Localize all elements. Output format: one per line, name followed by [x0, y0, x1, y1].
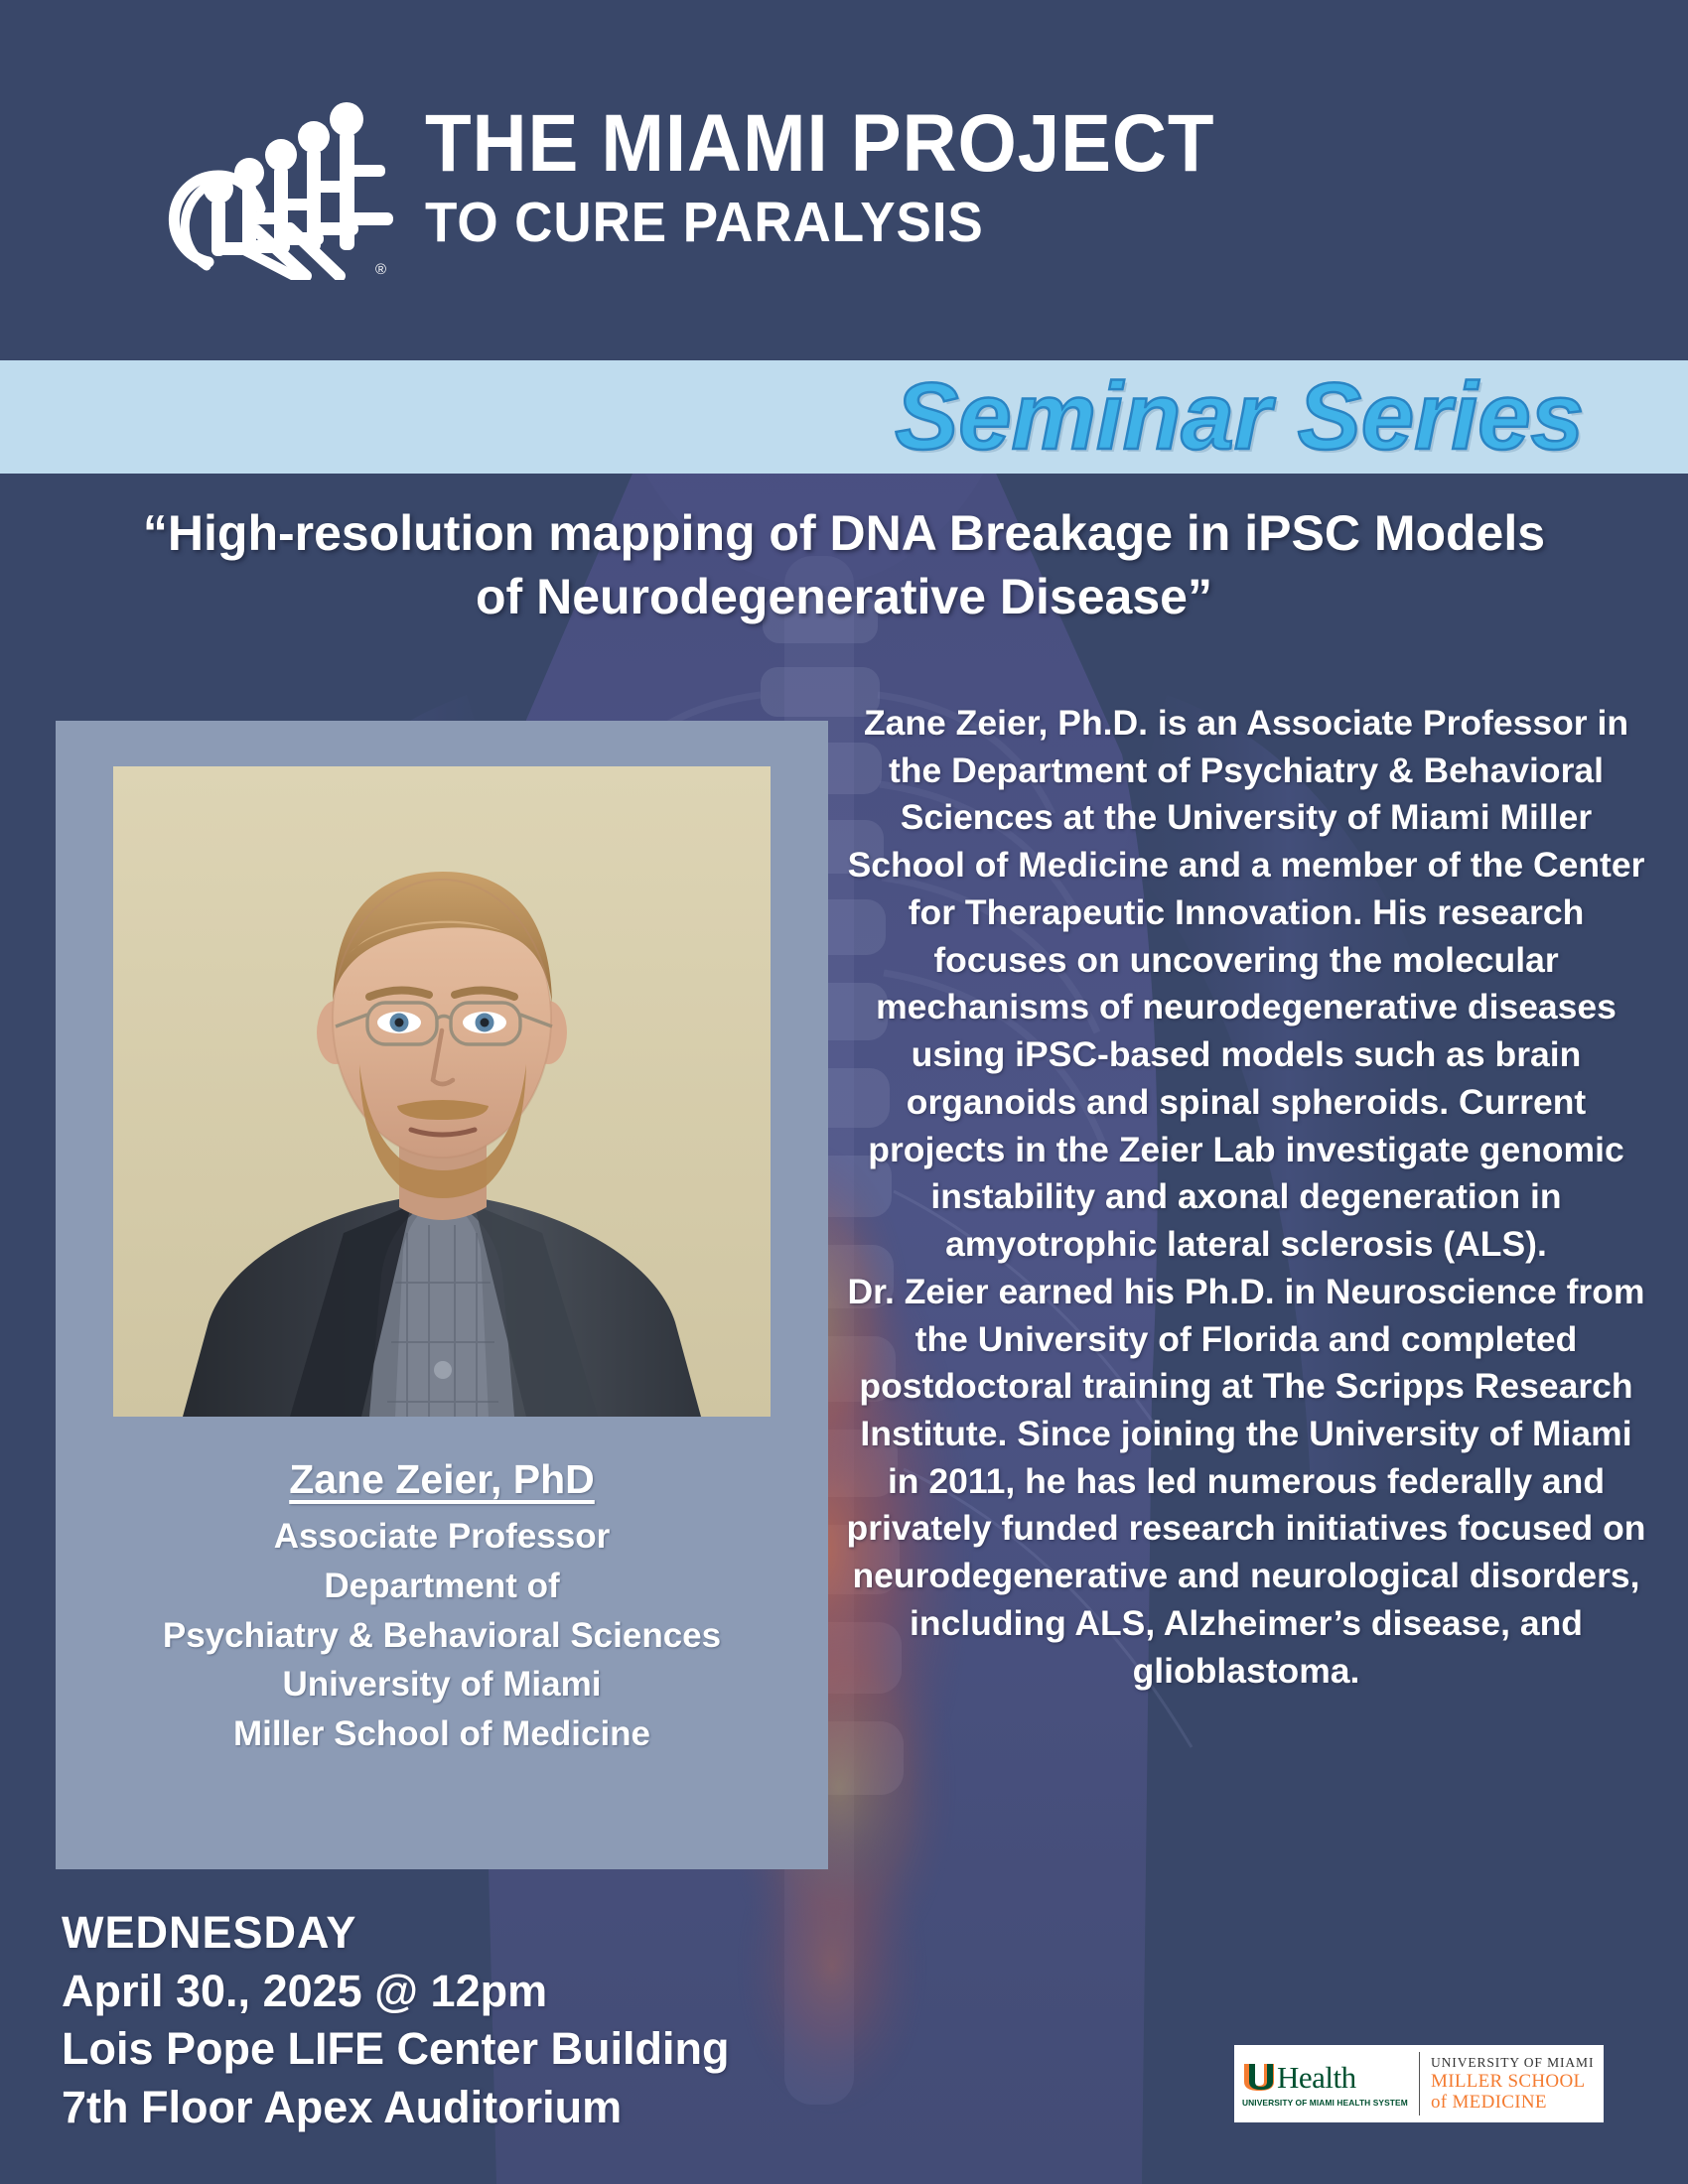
speaker-title: Associate Professor [163, 1512, 721, 1562]
seminar-series-band: Seminar Series [0, 360, 1688, 474]
speaker-institution-line-2: Miller School of Medicine [163, 1709, 721, 1759]
flyer-header: ® THE MIAMI PROJECT TO CURE PARALYSIS [0, 0, 1688, 360]
speaker-department-line-1: Department of [163, 1562, 721, 1611]
uhealth-wordmark-block: Health UNIVERSITY OF MIAMI HEALTH SYSTEM [1234, 2045, 1419, 2122]
seminar-series-title: Seminar Series [895, 369, 1584, 465]
header-inner: ® THE MIAMI PROJECT TO CURE PARALYSIS [149, 81, 1274, 280]
event-room: 7th Floor Apex Auditorium [62, 2079, 816, 2137]
speaker-panel: Zane Zeier, PhD Associate Professor Depa… [56, 721, 828, 1869]
uhealth-wordmark-row: Health [1242, 2062, 1419, 2093]
speaker-credentials: Zane Zeier, PhD Associate Professor Depa… [163, 1450, 721, 1759]
headshot-illustration [113, 766, 771, 1417]
speaker-name: Zane Zeier, PhD [163, 1450, 721, 1508]
org-name-line-1: THE MIAMI PROJECT [425, 105, 1214, 183]
speaker-biography: Zane Zeier, Ph.D. is an Associate Profes… [844, 700, 1648, 1695]
um-u-logo-icon [1242, 2062, 1276, 2092]
speaker-department-line-2: Psychiatry & Behavioral Sciences [163, 1611, 721, 1661]
miller-school-line-2: of MEDICINE [1431, 2092, 1604, 2113]
event-day: WEDNESDAY [62, 1904, 816, 1963]
event-venue: Lois Pope LIFE Center Building [62, 2020, 816, 2079]
speaker-headshot-photo [113, 766, 771, 1417]
bio-paragraph-2: Dr. Zeier earned his Ph.D. in Neuroscien… [844, 1269, 1648, 1696]
organization-wordmark: THE MIAMI PROJECT TO CURE PARALYSIS [425, 105, 1274, 255]
bio-paragraph-1: Zane Zeier, Ph.D. is an Associate Profes… [844, 700, 1648, 1269]
uhealth-logo-lockup: Health UNIVERSITY OF MIAMI HEALTH SYSTEM… [1234, 2045, 1604, 2122]
talk-title: “High-resolution mapping of DNA Breakage… [119, 501, 1569, 628]
miller-school-block: UNIVERSITY OF MIAMI MILLER SCHOOL of MED… [1420, 2045, 1604, 2122]
event-date-time: April 30., 2025 @ 12pm [62, 1963, 816, 2021]
miller-school-line-1: MILLER SCHOOL [1431, 2071, 1604, 2092]
university-of-miami-line: UNIVERSITY OF MIAMI [1431, 2055, 1604, 2071]
speaker-institution-line-1: University of Miami [163, 1660, 721, 1709]
org-name-line-2: TO CURE PARALYSIS [425, 191, 1214, 256]
registered-mark-text: ® [375, 261, 386, 278]
uhealth-wordmark-text: Health [1277, 2062, 1356, 2093]
miami-project-wheelchair-logo-icon: ® [149, 81, 397, 280]
event-details: WEDNESDAY April 30., 2025 @ 12pm Lois Po… [62, 1904, 816, 2136]
uhealth-system-line: UNIVERSITY OF MIAMI HEALTH SYSTEM [1242, 2098, 1419, 2108]
